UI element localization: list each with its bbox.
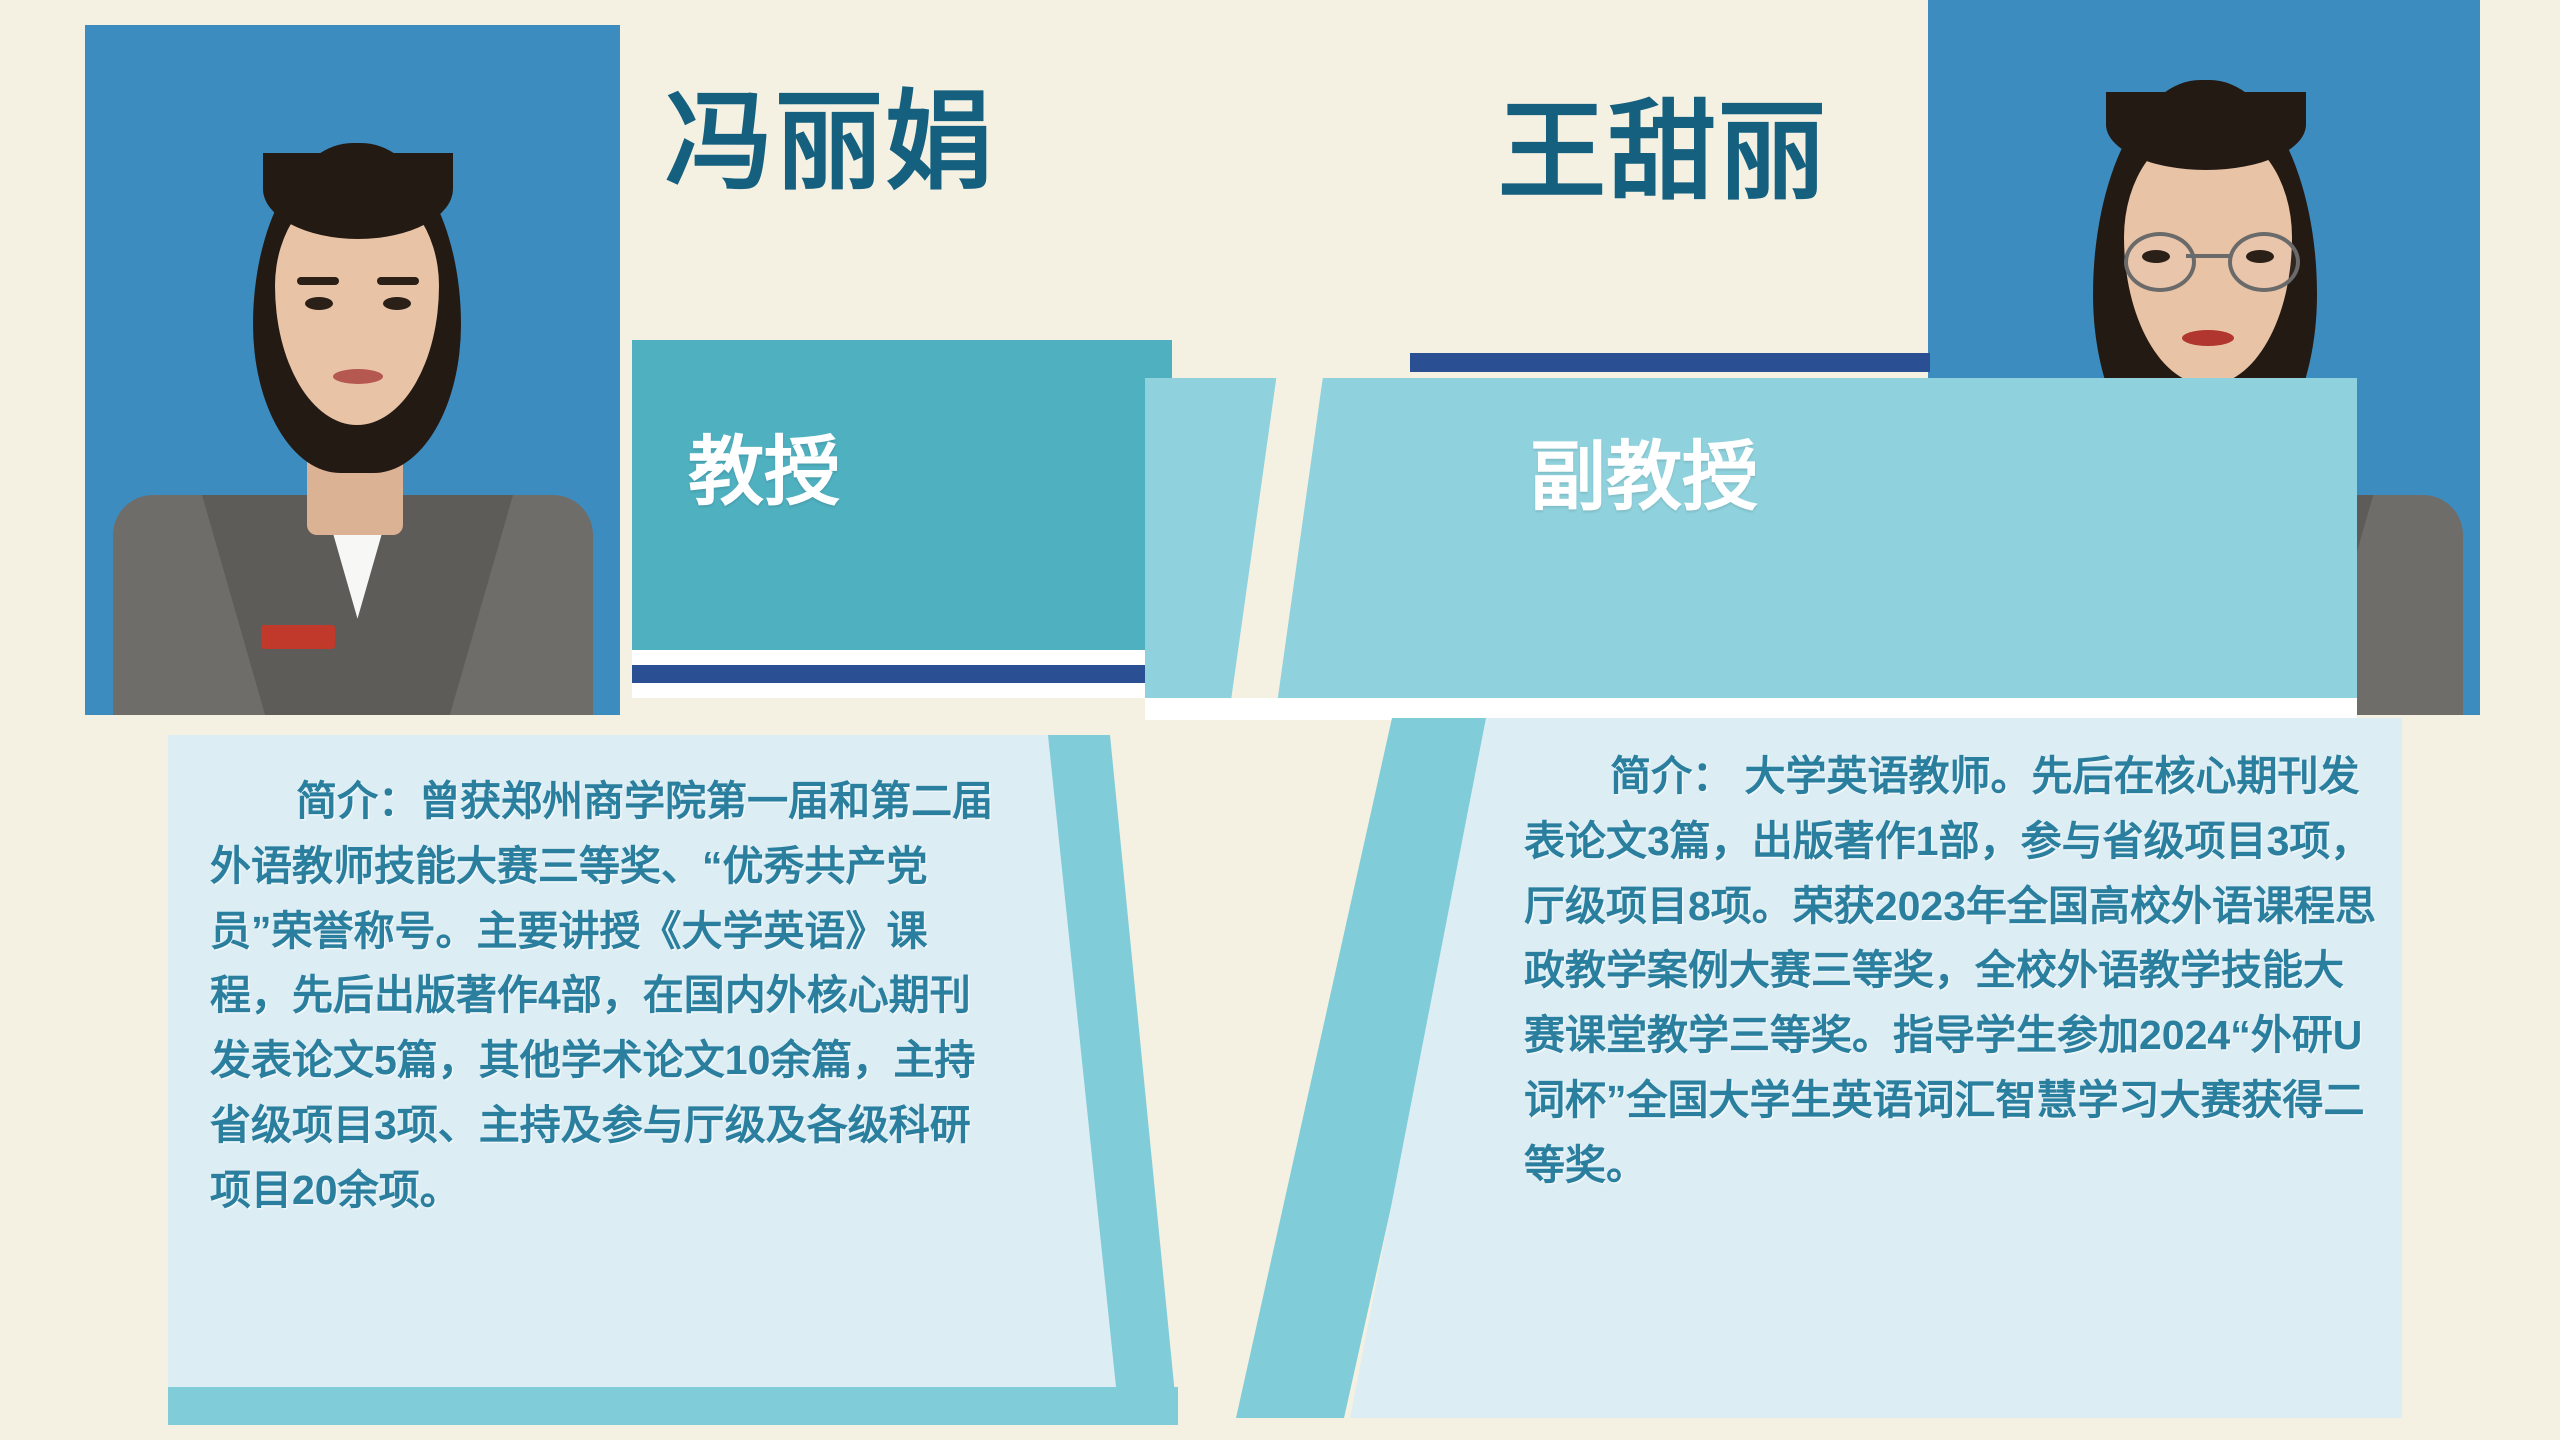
slide-canvas: 冯丽娟 王甜丽 教授 副教授 简介：曾获郑州商学院第一届和第二届外语教师技能大赛…	[0, 0, 2560, 1440]
eye-left	[305, 297, 333, 310]
eye-right	[2246, 250, 2274, 263]
role-right-rule	[1410, 353, 1930, 372]
role-right-white-band	[1145, 698, 2357, 720]
role-label-left: 教授	[688, 435, 840, 511]
role-block-right-underlay	[1145, 378, 2357, 698]
eyebrow-right	[377, 277, 419, 285]
bio-panel-left: 简介：曾获郑州商学院第一届和第二届外语教师技能大赛三等奖、“优秀共产党员”荣誉称…	[168, 735, 1178, 1425]
eyeglass-bridge	[2186, 254, 2230, 258]
name-badge	[261, 625, 335, 649]
person-name-left: 冯丽娟	[665, 88, 995, 196]
bio-text-left: 简介：曾获郑州商学院第一届和第二届外语教师技能大赛三等奖、“优秀共产党员”荣誉称…	[210, 769, 1000, 1222]
eyebrow-left	[297, 277, 339, 285]
role-left-rule	[632, 665, 1169, 683]
bio-text-right: 简介： 大学英语教师。先后在核心期刊发表论文3篇，出版著作1部，参与省级项目3项…	[1524, 744, 2384, 1197]
role-label-right: 副教授	[1530, 440, 1758, 516]
mouth	[2182, 330, 2234, 346]
person-name-right: 王甜丽	[1498, 98, 1828, 206]
portrait-photo-left	[85, 25, 620, 715]
eye-right	[383, 297, 411, 310]
mouth	[333, 369, 383, 384]
eye-left	[2142, 250, 2170, 263]
bio-panel-right: 简介： 大学英语教师。先后在核心期刊发表论文3篇，出版著作1部，参与省级项目3项…	[1232, 718, 2402, 1418]
